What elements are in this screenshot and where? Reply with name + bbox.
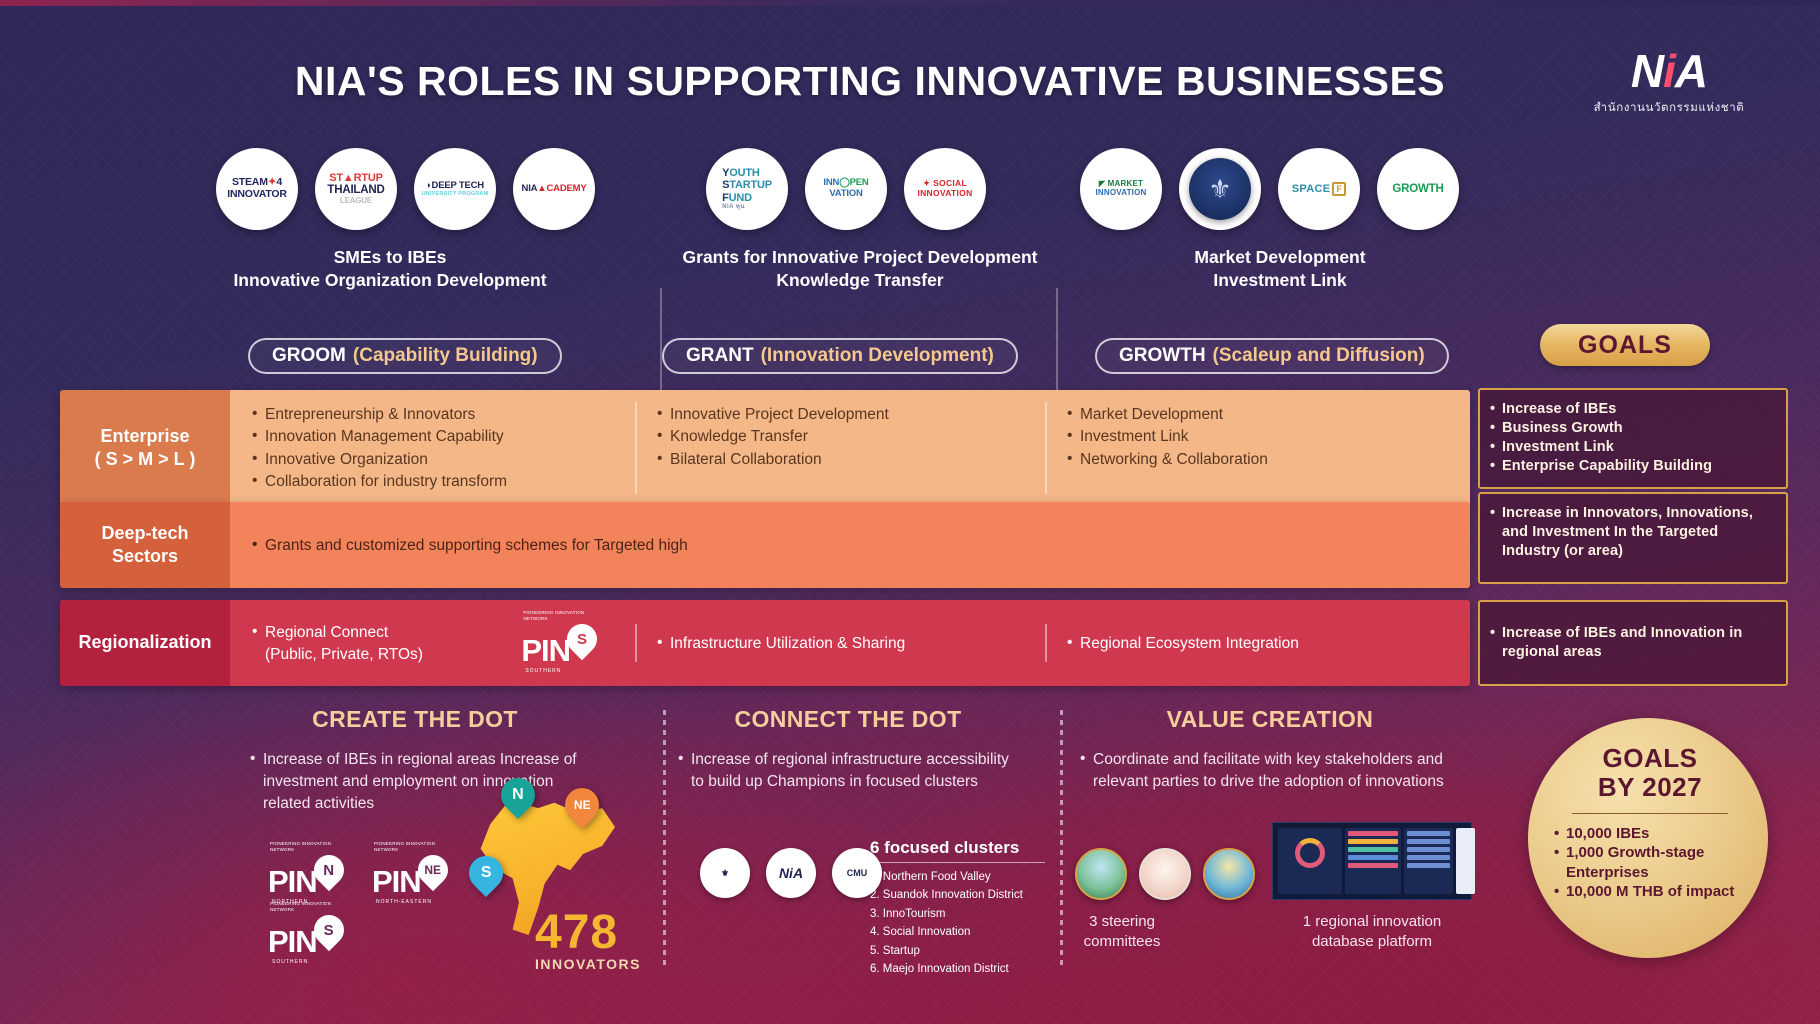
market-innovation-logo[interactable]: ◤ MARKETINNOVATION — [1080, 148, 1162, 230]
pin-southern-logo[interactable]: PIONEERING INNOVATION NETWORK PIN S SOUT… — [521, 624, 597, 664]
program-group-groom-logos: STEAM✦4INNOVATOR ST▲RTUPTHAILANDLEAGUE ◗… — [216, 148, 595, 230]
pillar-pill-grant[interactable]: GRANT (Innovation Development) — [662, 338, 1018, 374]
space-f-logo[interactable]: SPACEF — [1278, 148, 1360, 230]
focused-clusters-list: 6 focused clusters Northern Food Valley … — [870, 838, 1045, 978]
goals-2027-item: 10,000 IBEs — [1554, 824, 1746, 843]
goals-pill: GOALS — [1540, 324, 1710, 366]
pin-northeast-logo[interactable]: PIONEERING INNOVATION NETWORK PIN NE NOR… — [372, 855, 448, 895]
platform-caption: 1 regional innovation database platform — [1258, 912, 1486, 951]
cluster-item: InnoTourism — [870, 905, 1045, 923]
growth-logo[interactable]: GROWTH — [1377, 148, 1459, 230]
goals-2027-item: 10,000 M THB of impact — [1554, 882, 1746, 901]
pin-south-logo-2[interactable]: PIONEERING INNOVATION NETWORK PIN S SOUT… — [268, 915, 344, 955]
open-innovation-logo[interactable]: INN◯PENVATION — [805, 148, 887, 230]
deep-tech-university-program-logo[interactable]: ◗DEEP TECHUNIVERSITY PROGRAM — [414, 148, 496, 230]
youth-startup-fund-logo[interactable]: YOUTHSTARTUPFUNDNIA ทุน — [706, 148, 788, 230]
pillar-sub-grant: (Innovation Development) — [761, 345, 994, 367]
startup-thailand-league-logo[interactable]: ST▲RTUPTHAILANDLEAGUE — [315, 148, 397, 230]
committee-seal-3-icon — [1203, 848, 1255, 900]
cell-enterprise-groom: Entrepreneurship & Innovators Innovation… — [230, 390, 635, 506]
dashboard-panel-chart — [1278, 828, 1342, 894]
nia-academy-logo[interactable]: NIA▲CADEMY — [513, 148, 595, 230]
bottom-column-value: VALUE CREATION Coordinate and facilitate… — [1080, 706, 1460, 793]
group-caption-growth: Market Development Investment Link — [1080, 246, 1480, 292]
cell-regional-grant: Infrastructure Utilization & Sharing — [635, 619, 1045, 667]
dashboard-panel-table — [1404, 828, 1453, 894]
matrix-row-deeptech: Deep-tech Sectors Grants and customized … — [60, 502, 1470, 588]
goals-2027-item: 1,000 Growth-stage Enterprises — [1554, 843, 1746, 881]
cluster-item: Suandok Innovation District — [870, 886, 1045, 904]
pillar-sub-groom: (Capability Building) — [353, 345, 538, 367]
row-label-regionalization: Regionalization — [60, 600, 230, 686]
column-divider-1 — [663, 710, 666, 965]
cell-enterprise-growth: Market Development Investment Link Netwo… — [1045, 390, 1470, 506]
row-label-deeptech: Deep-tech Sectors — [60, 502, 230, 588]
create-heading: CREATE THE DOT — [250, 706, 580, 733]
nia-logo: NiA สำนักงานนวัตกรรมแห่งชาติ — [1574, 48, 1764, 117]
nia-mini-logo[interactable]: NiA — [766, 848, 816, 898]
database-platform-screenshot — [1272, 822, 1472, 900]
matrix-row-regionalization: Regionalization Regional Connect (Public… — [60, 600, 1470, 686]
dashboard-panel-bars — [1345, 828, 1401, 894]
program-group-growth-logos: ◤ MARKETINNOVATION ⚜ SPACEF GROWTH — [1080, 148, 1459, 230]
nia-logo-mark: NiA — [1574, 48, 1764, 94]
cmu-seal-icon[interactable]: ⚜ — [700, 848, 750, 898]
goals-box-deeptech: Increase in Innovators, Innovations, and… — [1478, 492, 1788, 584]
connect-partner-logos: ⚜ NiA CMU — [700, 848, 882, 898]
cluster-item: Maejo Innovation District — [870, 960, 1045, 978]
pillar-pill-growth[interactable]: GROWTH (Scaleup and Diffusion) — [1095, 338, 1449, 374]
nia-logo-subtitle: สำนักงานนวัตกรรมแห่งชาติ — [1574, 99, 1764, 117]
top-accent-bar — [0, 0, 1820, 6]
innovators-label: INNOVATORS — [535, 956, 641, 972]
bottom-column-connect: CONNECT THE DOT Increase of regional inf… — [678, 706, 1018, 793]
committee-seal-2-icon — [1139, 848, 1191, 900]
clusters-title: 6 focused clusters — [870, 838, 1045, 863]
committee-seal-1-icon — [1075, 848, 1127, 900]
pillar-name-groom: GROOM — [272, 345, 346, 367]
matrix-row-enterprise: Enterprise ( S > M > L ) Entrepreneurshi… — [60, 390, 1470, 506]
value-heading: VALUE CREATION — [1080, 706, 1460, 733]
connect-heading: CONNECT THE DOT — [678, 706, 1018, 733]
row-label-enterprise: Enterprise ( S > M > L ) — [60, 390, 230, 506]
cell-enterprise-grant: Innovative Project Development Knowledge… — [635, 390, 1045, 506]
steam4-innovator-logo[interactable]: STEAM✦4INNOVATOR — [216, 148, 298, 230]
connect-text: Increase of regional infrastructure acce… — [678, 749, 1018, 793]
pillar-name-grant: GRANT — [686, 345, 754, 367]
innovators-stat: 478 INNOVATORS — [535, 905, 641, 972]
innovators-number: 478 — [535, 906, 618, 959]
value-text: Coordinate and facilitate with key stake… — [1080, 749, 1460, 793]
committees-caption: 3 steering committees — [1062, 912, 1182, 951]
goals-2027-circle: GOALS BY 2027 10,000 IBEs 1,000 Growth-s… — [1528, 718, 1768, 958]
cell-regional-growth: Regional Ecosystem Integration — [1045, 619, 1470, 667]
goals-2027-title: GOALS BY 2027 — [1554, 744, 1746, 802]
cluster-item: Social Innovation — [870, 923, 1045, 941]
infographic-canvas: NIA'S ROLES IN SUPPORTING INNOVATIVE BUS… — [0, 0, 1820, 1024]
goals-box-enterprise: Increase of IBEs Business Growth Investm… — [1478, 388, 1788, 489]
page-title: NIA'S ROLES IN SUPPORTING INNOVATIVE BUS… — [210, 58, 1530, 105]
cell-deeptech-all: Grants and customized supporting schemes… — [230, 521, 1470, 569]
social-innovation-logo[interactable]: ✦ SOCIALINNOVATION — [904, 148, 986, 230]
pillar-sub-growth: (Scaleup and Diffusion) — [1213, 345, 1425, 367]
pillar-pill-groom[interactable]: GROOM (Capability Building) — [248, 338, 562, 374]
cluster-item: Northern Food Valley — [870, 868, 1045, 886]
dashboard-panel-detail — [1456, 828, 1475, 894]
mhesi-seal-logo[interactable]: ⚜ — [1179, 148, 1261, 230]
steering-committee-seals — [1075, 848, 1255, 900]
cell-regional-groom: Regional Connect (Public, Private, RTOs)… — [230, 608, 635, 679]
cluster-item: Startup — [870, 942, 1045, 960]
pin-north-logo[interactable]: PIONEERING INNOVATION NETWORK PIN N NORT… — [268, 855, 344, 895]
goals-box-regionalization: Increase of IBEs and Innovation in regio… — [1478, 600, 1788, 686]
program-group-grant-logos: YOUTHSTARTUPFUNDNIA ทุน INN◯PENVATION ✦ … — [706, 148, 986, 230]
group-caption-groom: SMEs to IBEs Innovative Organization Dev… — [180, 246, 600, 292]
group-caption-grant: Grants for Innovative Project Developmen… — [660, 246, 1060, 292]
pillar-name-growth: GROWTH — [1119, 345, 1206, 367]
